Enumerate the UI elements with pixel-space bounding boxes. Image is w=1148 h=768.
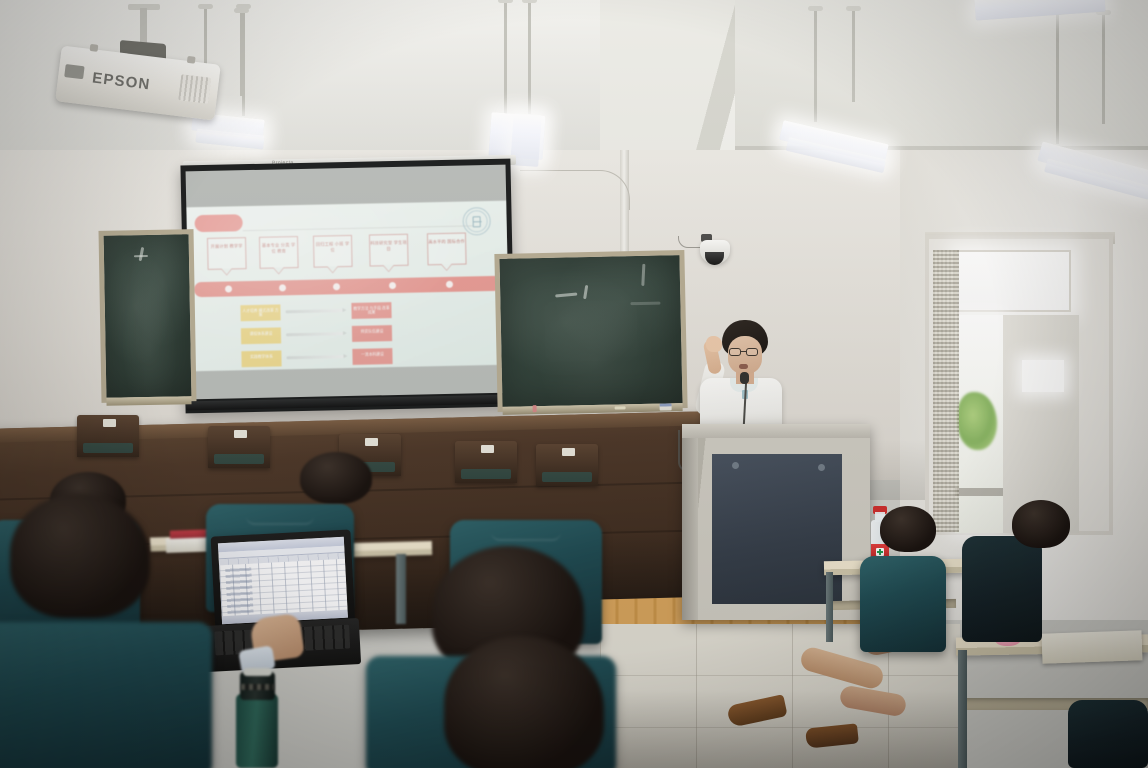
light-rod bbox=[814, 10, 817, 122]
name-card bbox=[365, 438, 378, 446]
rod-cap bbox=[234, 8, 249, 13]
door-bead-curtain bbox=[933, 250, 959, 532]
laptop-screen bbox=[218, 537, 348, 624]
slide-milestone-tag: 回归工程 小班 学位 bbox=[313, 235, 353, 268]
left-chalkboard bbox=[99, 229, 197, 403]
open-textbook bbox=[1042, 630, 1143, 663]
door-threshold bbox=[955, 488, 1003, 496]
slide-seal-icon bbox=[462, 207, 491, 236]
chalk-residue bbox=[104, 234, 192, 397]
rod-cap bbox=[846, 6, 861, 11]
chalk-mark bbox=[630, 302, 660, 306]
slide-connector bbox=[286, 332, 344, 336]
chalk-mark bbox=[134, 255, 148, 257]
rod-cap bbox=[498, 0, 513, 3]
projector-foot bbox=[90, 44, 99, 52]
name-card bbox=[562, 448, 575, 456]
panel-chair-4[interactable] bbox=[455, 441, 517, 483]
microphone-icon[interactable] bbox=[740, 372, 749, 384]
light-rod bbox=[852, 10, 855, 102]
desk-leg bbox=[958, 650, 967, 768]
chalk-residue bbox=[499, 255, 682, 407]
eyeglasses-icon bbox=[746, 348, 758, 356]
slide-milestone-tag: 基本专业 分类 学位 教育 bbox=[259, 236, 299, 269]
light-rod bbox=[528, 2, 531, 114]
timeline-node bbox=[389, 282, 396, 289]
podium-fastener bbox=[732, 462, 739, 469]
audience-chair-right-1[interactable] bbox=[860, 556, 946, 652]
projection-screen-surface: 开展计划 教学学 基本专业 分类 学位 教育 回归工程 小班 学位 科技研究型 … bbox=[186, 165, 511, 400]
projector-foot bbox=[187, 56, 196, 64]
door-transom-window bbox=[955, 250, 1071, 312]
eyeglasses-icon bbox=[729, 348, 741, 356]
door-vision-panel bbox=[1022, 360, 1064, 392]
timeline-node bbox=[446, 281, 453, 288]
thermos-lid bbox=[243, 668, 272, 676]
podium-side-panel bbox=[682, 434, 698, 620]
right-chalkboard bbox=[494, 250, 687, 412]
timeline-node bbox=[279, 284, 286, 291]
chair-seat bbox=[214, 454, 264, 464]
name-card bbox=[234, 430, 247, 438]
audience-chair-right-3[interactable] bbox=[1068, 700, 1148, 768]
chalk-stick bbox=[533, 405, 537, 412]
rod-cap bbox=[808, 6, 823, 11]
student-head-back-2 bbox=[300, 452, 372, 504]
student-head-front-left bbox=[10, 494, 150, 618]
student-head-right-1 bbox=[880, 506, 936, 552]
projector-lens-icon bbox=[64, 64, 84, 79]
slide-title-banner bbox=[194, 214, 242, 232]
presenter-hand bbox=[706, 336, 722, 352]
light-rod bbox=[1056, 14, 1059, 144]
slide-left-box: 人才培养 模式改革 方案 bbox=[240, 304, 280, 321]
chair-seat bbox=[461, 469, 511, 479]
blackboard-eraser bbox=[660, 403, 672, 410]
slide-connector bbox=[285, 309, 343, 313]
light-rod bbox=[504, 2, 507, 114]
classroom-photo: EPSON Projecta 开展计划 教学学 基本专业 分类 学位 教育 回归… bbox=[0, 0, 1148, 768]
podium-front-panel bbox=[712, 454, 842, 604]
panel-chair-2[interactable] bbox=[208, 426, 270, 468]
rod-cap bbox=[198, 4, 213, 9]
chair-notch bbox=[491, 532, 561, 541]
desk-leg bbox=[396, 554, 406, 624]
chair-seat bbox=[542, 472, 592, 482]
name-card bbox=[103, 419, 116, 427]
slide-milestone-tag: 高水平的 国际合作 bbox=[427, 233, 467, 266]
slide-divider bbox=[243, 225, 473, 231]
chalk-stick bbox=[615, 406, 626, 409]
slide-timeline-bar bbox=[194, 276, 502, 297]
presentation-slide: 开展计划 教学学 基本专业 分类 学位 教育 回归工程 小班 学位 科技研究型 … bbox=[186, 201, 509, 372]
bottle-label-cross-icon bbox=[876, 548, 884, 556]
slide-left-box: 实践教学体系 bbox=[241, 350, 281, 367]
presenter-mouth bbox=[739, 364, 748, 369]
panel-chair-5[interactable] bbox=[536, 444, 598, 486]
audience-chair-front-1[interactable] bbox=[0, 622, 212, 768]
chair-notch bbox=[246, 516, 314, 525]
light-rod bbox=[240, 12, 243, 96]
podium-top-surface bbox=[682, 424, 870, 438]
projector-brand-label: EPSON bbox=[91, 69, 151, 93]
desk-leg bbox=[826, 572, 833, 642]
seal-core-icon bbox=[473, 216, 481, 227]
slide-milestone-tag: 科技研究型 学生项目 bbox=[369, 234, 409, 267]
panel-chair-1[interactable] bbox=[77, 415, 139, 457]
slide-right-box: 一流本科建设 bbox=[352, 348, 392, 365]
student-head-right-2 bbox=[1012, 500, 1070, 548]
podium-fastener bbox=[818, 464, 825, 471]
slide-right-box: 教学方法 与手段 改革成果 bbox=[351, 302, 391, 319]
name-card bbox=[481, 445, 494, 453]
thermos-flask[interactable] bbox=[236, 694, 278, 768]
chalk-tray bbox=[106, 396, 191, 405]
audience-chair-right-2[interactable] bbox=[962, 536, 1042, 642]
slide-left-box: 课程体系建设 bbox=[241, 327, 281, 344]
projection-screen: 开展计划 教学学 基本专业 分类 学位 教育 回归工程 小班 学位 科技研究型 … bbox=[180, 159, 515, 414]
eyeglasses-bridge bbox=[741, 351, 746, 352]
timeline-node bbox=[333, 283, 340, 290]
light-rod bbox=[1102, 14, 1105, 124]
slide-milestone-tag: 开展计划 教学学 bbox=[207, 237, 247, 270]
thermos-grip-band bbox=[241, 684, 274, 690]
chair-seat bbox=[83, 443, 133, 453]
spreadsheet-filled-column bbox=[225, 566, 253, 614]
rod-cap bbox=[522, 0, 537, 3]
slide-right-box: 师资队伍建设 bbox=[352, 325, 392, 342]
timeline-node bbox=[225, 285, 232, 292]
student-desk-mid-2 bbox=[352, 541, 432, 557]
wall-cable bbox=[520, 170, 630, 210]
projector-vent bbox=[178, 74, 211, 103]
slide-connector bbox=[286, 355, 344, 359]
